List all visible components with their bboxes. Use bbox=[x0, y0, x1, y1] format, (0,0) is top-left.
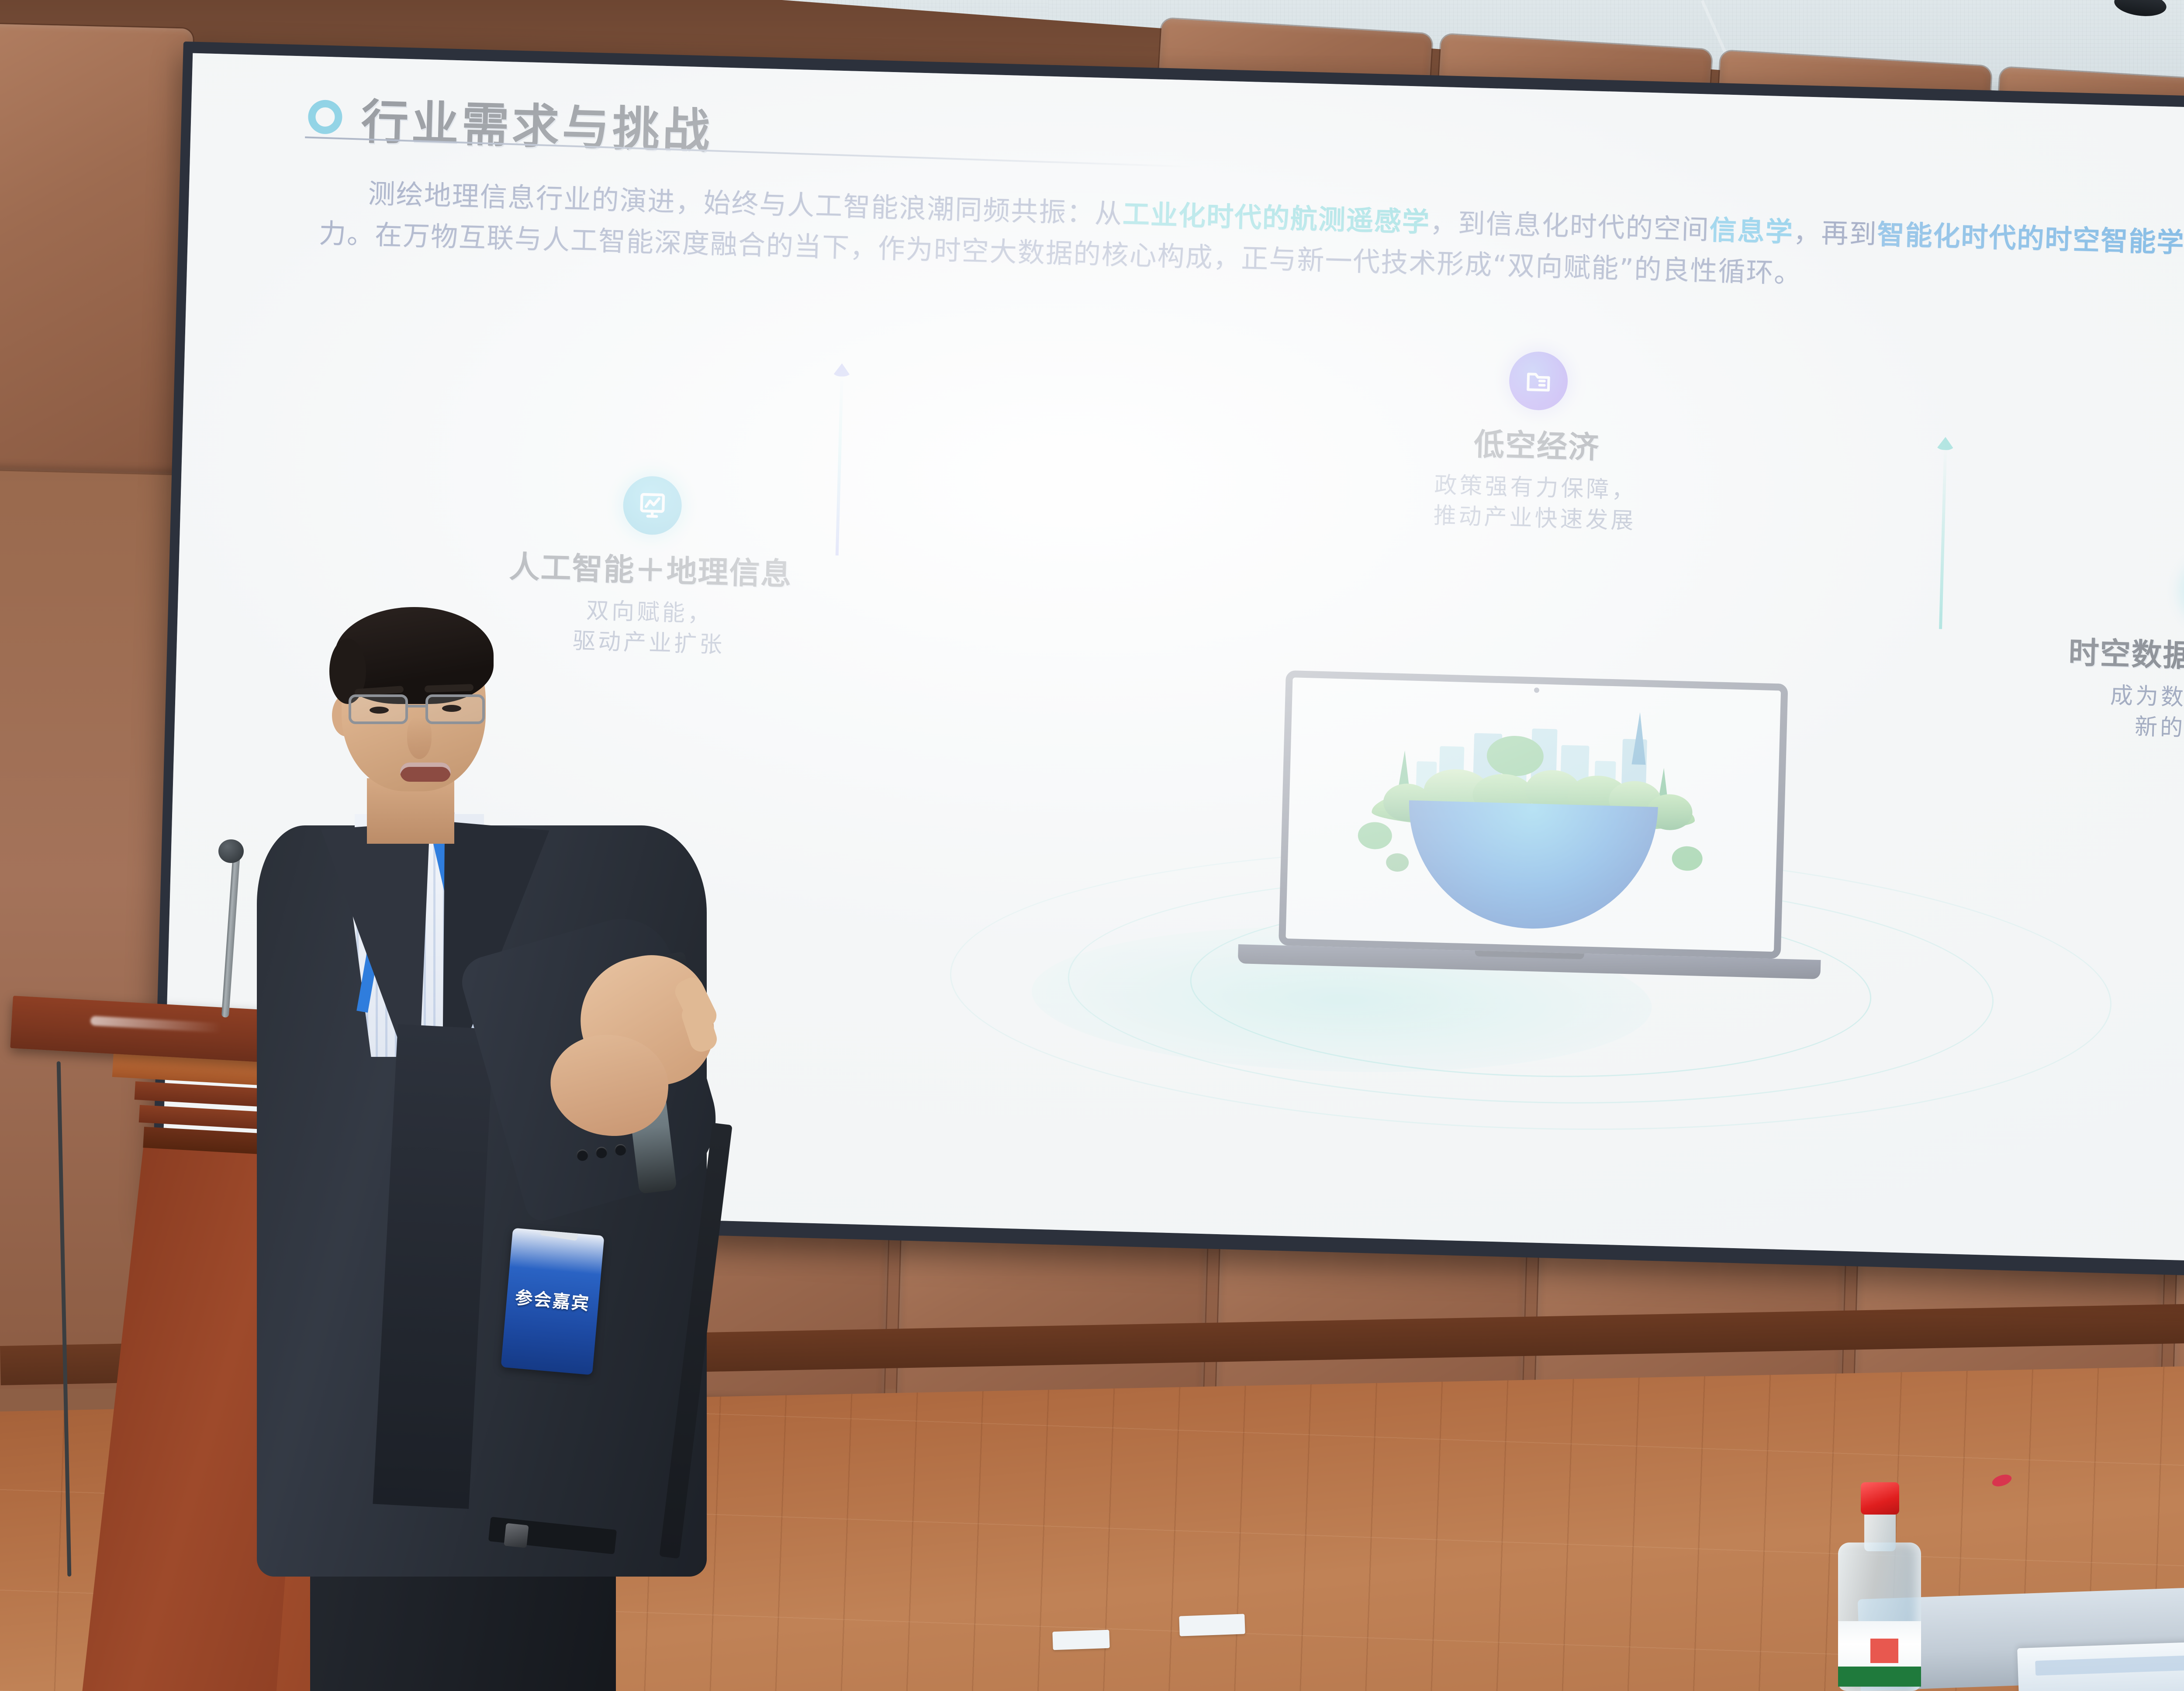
wall-panel bbox=[0, 24, 193, 474]
feature-card-low-altitude-economy: 低空经济 政策强有力保障， 推动产业快速发展 bbox=[1259, 344, 1814, 541]
folder-document-icon bbox=[1508, 351, 1569, 411]
belt-buckle bbox=[504, 1523, 529, 1548]
card-subtitle: 成为数字中国建设 新的增长引擎 bbox=[1904, 675, 2184, 752]
ring-icon bbox=[308, 100, 342, 135]
mouth bbox=[400, 763, 451, 782]
nose bbox=[407, 717, 432, 759]
floor-tag bbox=[1179, 1614, 1245, 1636]
para-highlight-3: 智能化时代的时空智能学 bbox=[1877, 218, 2184, 259]
para-highlight-2: 信息学 bbox=[1709, 214, 1794, 248]
eco-globe-graphic bbox=[1338, 712, 1728, 928]
laptop-eco-globe-illustration bbox=[1279, 670, 1788, 959]
globe-water bbox=[1406, 800, 1658, 932]
eye bbox=[442, 705, 461, 712]
para-seg-3: ，再到 bbox=[1793, 216, 1878, 250]
para-seg-2: ，到信息化时代的空间 bbox=[1430, 206, 1710, 245]
bottle-cap bbox=[1861, 1482, 1899, 1515]
para-highlight-1: 工业化时代的航测遥感学 bbox=[1122, 198, 1431, 238]
card-sub-line2: 新的增长引擎 bbox=[1904, 705, 2184, 752]
conference-badge: 参会嘉宾 bbox=[501, 1228, 604, 1375]
floor-tag bbox=[1052, 1630, 1109, 1650]
water-bottle bbox=[1826, 1486, 1931, 1691]
slide-paragraph: 测绘地理信息行业的演进，始终与人工智能浪潮同频共振：从工业化时代的航测遥感学，到… bbox=[318, 172, 2184, 316]
laptop-lid bbox=[1279, 670, 1788, 959]
microphone-cable bbox=[57, 1061, 72, 1577]
card-subtitle: 政策强有力保障， 推动产业快速发展 bbox=[1259, 465, 1811, 541]
card-title: 低空经济 bbox=[1261, 414, 1812, 473]
photo-scene: 行业需求与挑战 测绘地理信息行业的演进，始终与人工智能浪潮同频共振：从工业化时代… bbox=[0, 0, 2184, 1691]
microphone-head-icon bbox=[218, 839, 244, 863]
bottle-label bbox=[1838, 1621, 1921, 1687]
laptop-camera-icon bbox=[1534, 687, 1539, 693]
badge-label: 参会嘉宾 bbox=[506, 1283, 599, 1316]
card-title: 人工智能＋地理信息 bbox=[362, 538, 940, 598]
feature-card-spatiotemporal-ai: 时空数据＋AI＋低空 成为数字中国建设 新的增长引擎 bbox=[1904, 554, 2184, 752]
presenter: 参会嘉宾 bbox=[245, 607, 725, 1691]
chart-board-icon bbox=[622, 476, 683, 536]
card-title: 时空数据＋AI＋低空 bbox=[1907, 624, 2184, 684]
eye bbox=[370, 707, 389, 714]
